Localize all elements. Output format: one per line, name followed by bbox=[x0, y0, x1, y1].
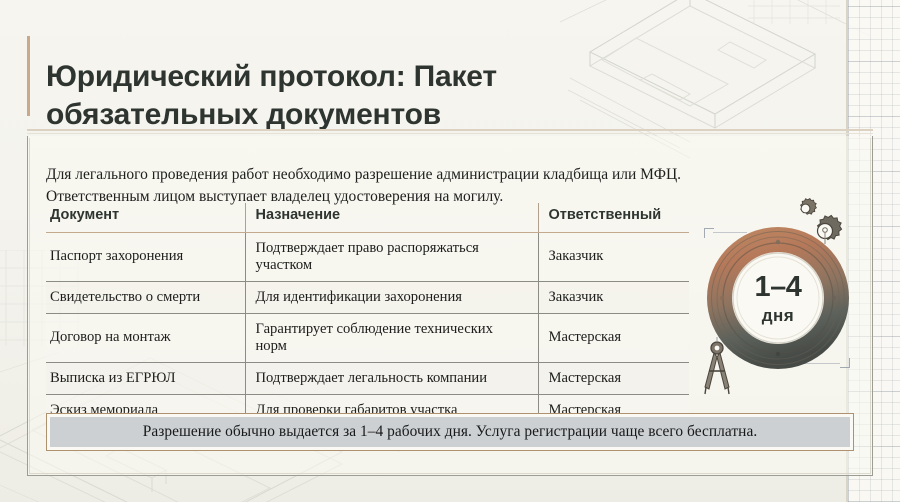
table-row: Договор на монтаж Гарантирует соблюдение… bbox=[46, 313, 689, 362]
cell-purpose: Подтверждает право распоряжаться участко… bbox=[245, 233, 538, 282]
cell-purpose: Подтверждает легальность компании bbox=[245, 362, 538, 394]
callout-text: Разрешение обычно выдается за 1–4 рабочи… bbox=[50, 417, 850, 447]
cell-responsible: Мастерская bbox=[538, 313, 689, 362]
cell-purpose: Для идентификации захоронения bbox=[245, 281, 538, 313]
table-row: Паспорт захоронения Подтверждает право р… bbox=[46, 233, 689, 282]
column-header-purpose: Назначение bbox=[245, 203, 538, 233]
page-title: Юридический протокол: Пакет обязательных… bbox=[46, 58, 646, 134]
column-header-responsible: Ответственный bbox=[538, 203, 689, 233]
cell-document: Выписка из ЕГРЮЛ bbox=[46, 362, 245, 394]
title-divider bbox=[27, 129, 873, 131]
cell-document: Паспорт захоронения bbox=[46, 233, 245, 282]
column-header-document: Документ bbox=[46, 203, 245, 233]
title-accent-bar bbox=[27, 36, 30, 116]
table-row: Выписка из ЕГРЮЛ Подтверждает легальност… bbox=[46, 362, 689, 394]
gear-small-icon bbox=[793, 196, 819, 222]
cell-document: Договор на монтаж bbox=[46, 313, 245, 362]
table-row: Свидетельство о смерти Для идентификации… bbox=[46, 281, 689, 313]
cell-responsible: Мастерская bbox=[538, 362, 689, 394]
cell-responsible: Заказчик bbox=[538, 281, 689, 313]
cell-responsible: Заказчик bbox=[538, 233, 689, 282]
title-divider-secondary bbox=[27, 133, 873, 134]
compass-divider-icon bbox=[697, 337, 737, 395]
slide-root: Юридический протокол: Пакет обязательных… bbox=[0, 0, 900, 502]
cell-document: Свидетельство о смерти bbox=[46, 281, 245, 313]
documents-table: Документ Назначение Ответственный Паспор… bbox=[46, 203, 689, 425]
table-header-row: Документ Назначение Ответственный bbox=[46, 203, 689, 233]
cell-purpose: Гарантирует соблюдение технических норм bbox=[245, 313, 538, 362]
